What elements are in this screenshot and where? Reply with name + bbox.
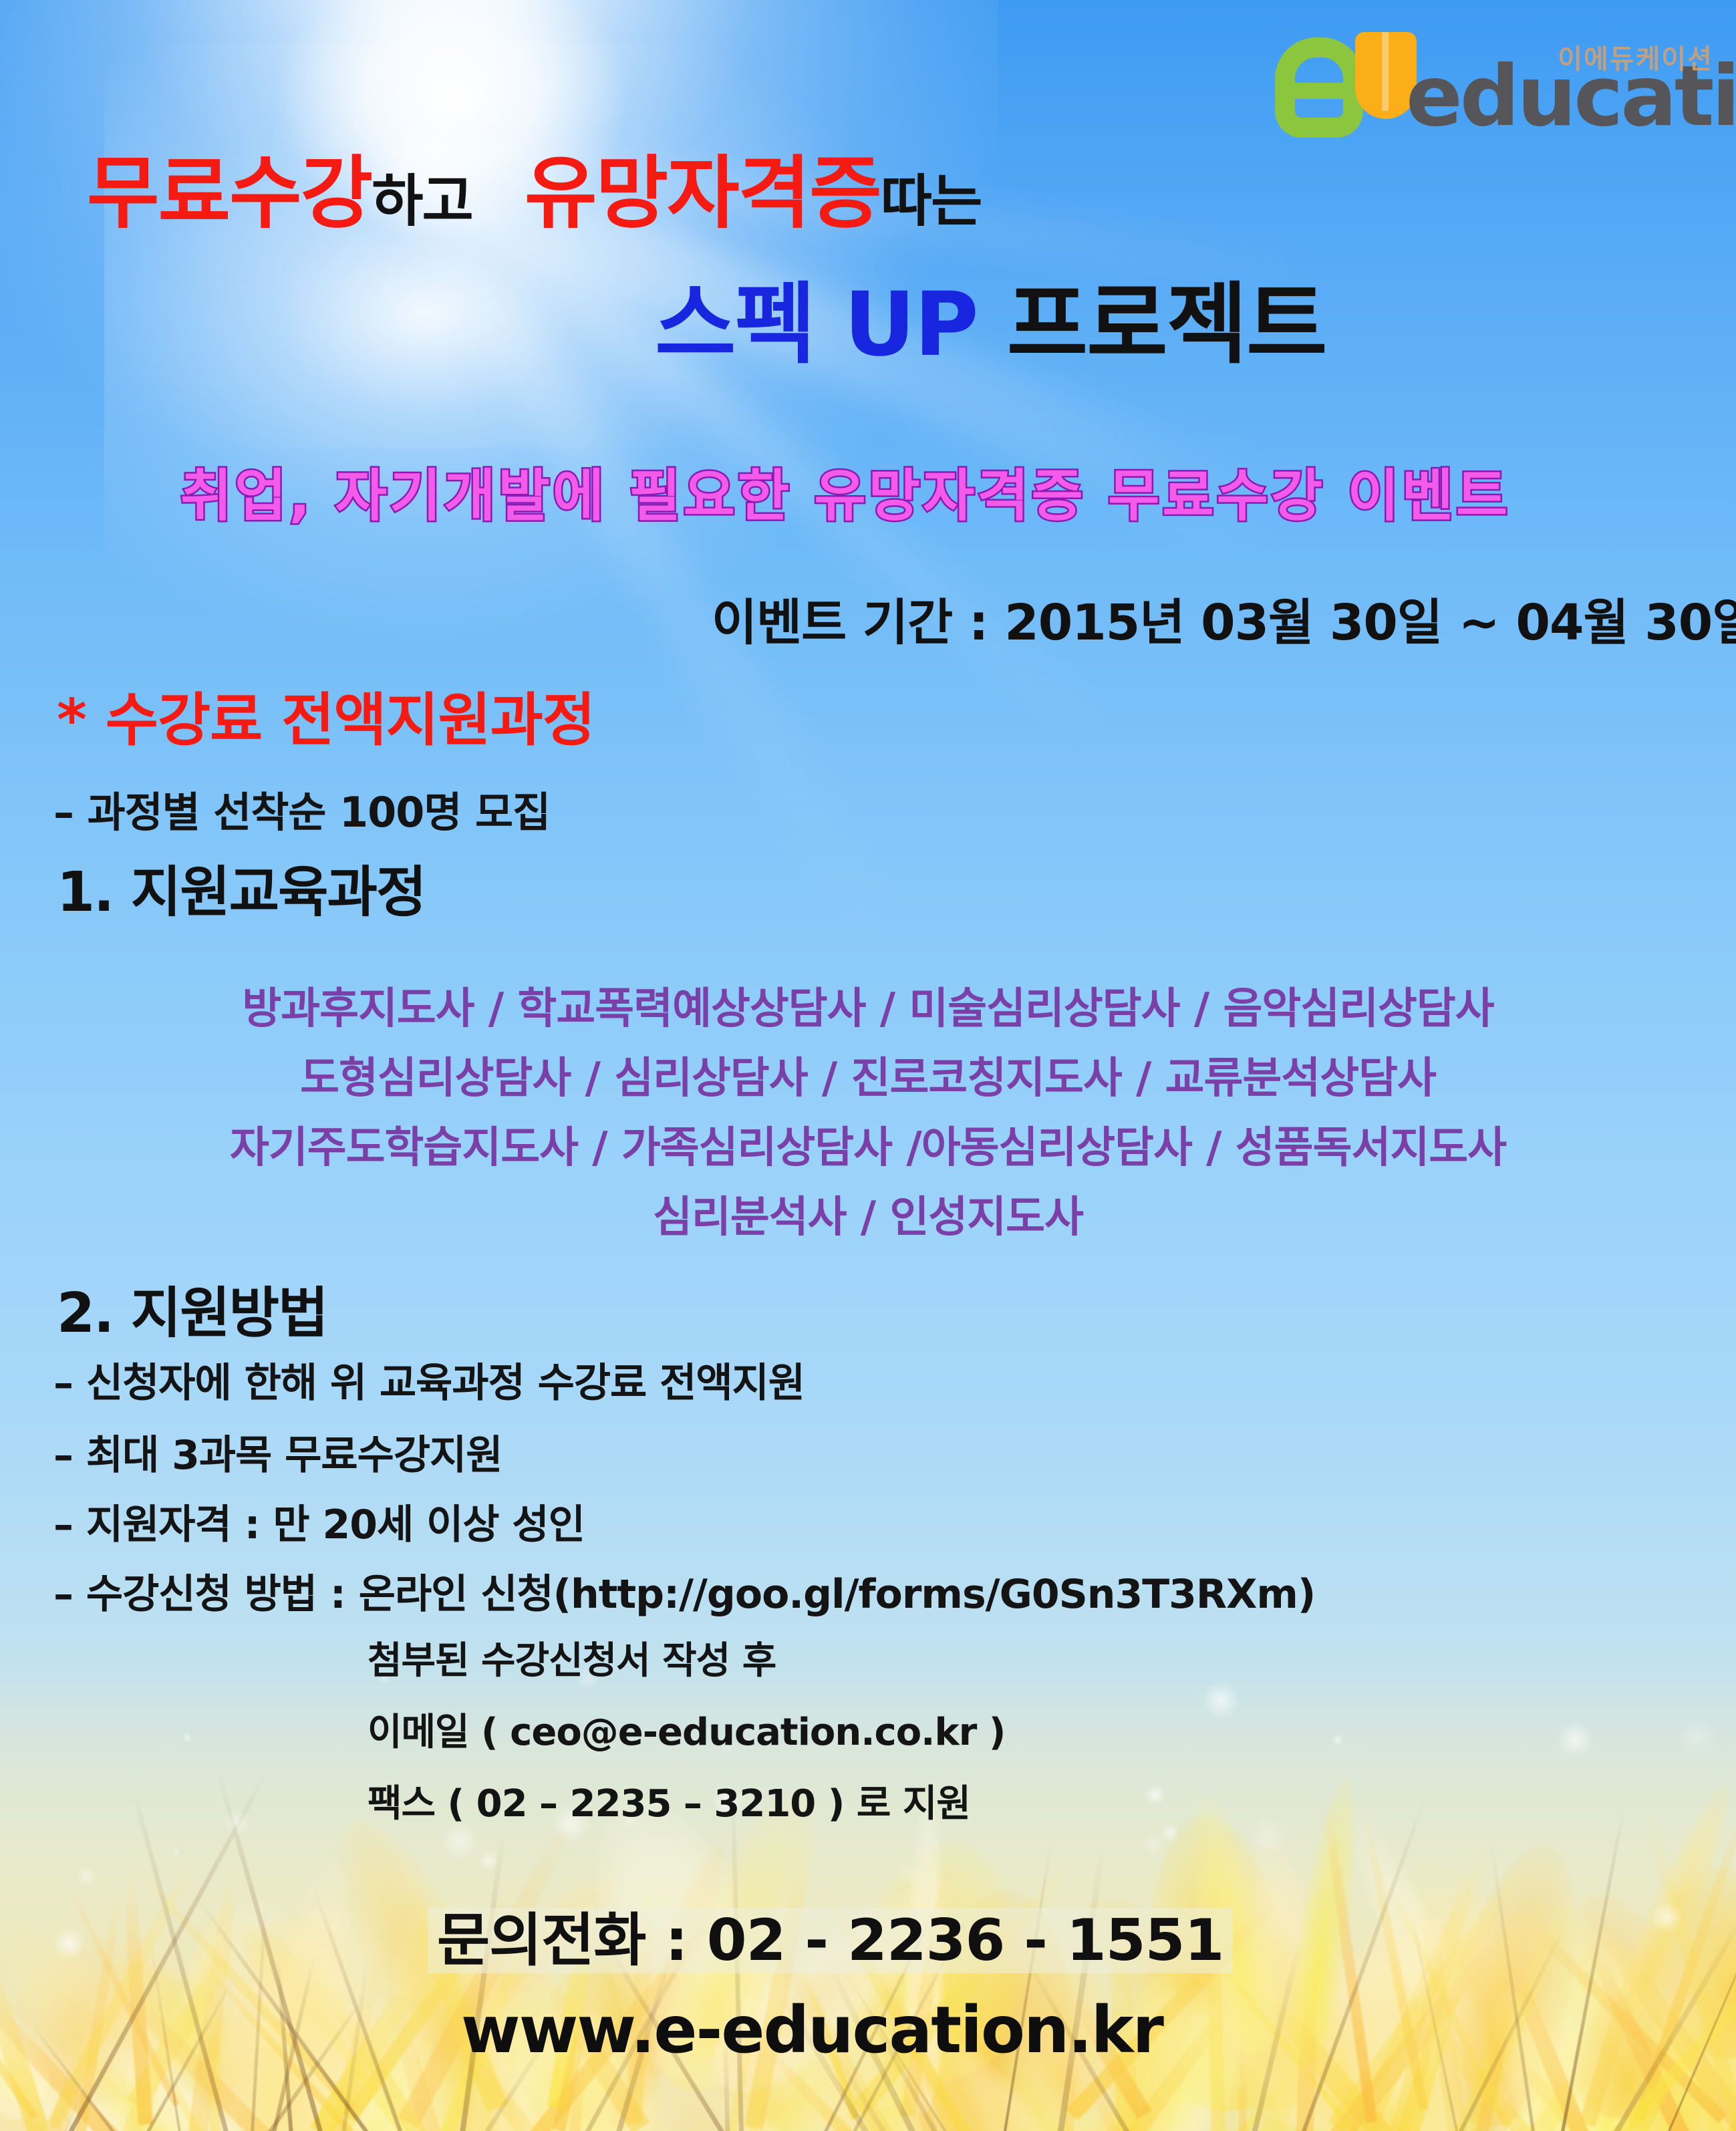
headline-project: 프로젝트 [1007, 273, 1326, 376]
bokeh-dot [170, 1846, 181, 1856]
course-line: 도형심리상담사 / 심리상담사 / 진로코칭지도사 / 교류분석상담사 [0, 1044, 1736, 1105]
brand-logo[interactable]: education 이에듀케이션 [1275, 25, 1716, 146]
bokeh-dot [1332, 1734, 1344, 1746]
apply-detail: 첨부된 수강신청서 작성 후 [368, 1643, 776, 1680]
apply-bullet: – 신청자에 한해 위 교육과정 수강료 전액지원 [53, 1363, 805, 1403]
bokeh-dot [440, 1821, 480, 1861]
bokeh-dot [1557, 1721, 1593, 1757]
headline-free-course: 무료수강 [87, 147, 372, 239]
headline-particle-2: 따는 [881, 168, 982, 234]
bokeh-dot [1201, 1681, 1241, 1720]
promotional-poster: (function(){ const f = document.querySel… [0, 0, 1736, 2131]
course-line: 방과후지도사 / 학교폭력예상상담사 / 미술심리상담사 / 음악심리상담사 [0, 974, 1736, 1036]
subtitle-banner: 취업, 자기개발에 필요한 유망자격증 무료수강 이벤트 [180, 468, 1510, 524]
bokeh-dot [1160, 1823, 1180, 1843]
contact-website[interactable]: www.e-education.kr [461, 1998, 1163, 2062]
apply-bullet-online-link[interactable]: – 수강신청 방법 : 온라인 신청(http://goo.gl/forms/G… [53, 1574, 1315, 1614]
bokeh-dot [1145, 1784, 1166, 1806]
apply-detail-fax: 팩스 ( 02 – 2235 – 3210 ) 로 지원 [368, 1786, 970, 1823]
event-period: 이벤트 기간 : 2015년 03월 30일 ~ 04월 30일 까지 [712, 598, 1736, 648]
section-2-heading: 2. 지원방법 [57, 1286, 327, 1341]
bokeh-dot [1677, 1717, 1717, 1757]
headline-particle-1: 하고 [372, 168, 472, 234]
headline-certificate: 유망자격증 [525, 147, 881, 239]
full-support-heading: * 수강료 전액지원과정 [57, 692, 595, 749]
logo-korean-name: 이에듀케이션 [1558, 37, 1713, 76]
course-line: 심리분석사 / 인성지도사 [0, 1183, 1736, 1244]
logo-e-crossbar-icon [1288, 83, 1350, 99]
bokeh-dot [478, 1850, 499, 1871]
bokeh-dot [53, 1927, 86, 1960]
course-line: 자기주도학습지도사 / 가족심리상담사 /아동심리상담사 / 성품독서지도사 [0, 1113, 1736, 1175]
recruit-note: – 과정별 선착순 100명 모집 [53, 792, 550, 833]
contact-phone: 문의전화 : 02 - 2236 - 1551 [428, 1908, 1233, 1973]
bokeh-dot [76, 1866, 96, 1886]
headline-line-2: 스펙 UP 프로젝트 [655, 281, 1326, 369]
headline-up: UP [844, 273, 978, 376]
bokeh-dot [1650, 1901, 1683, 1934]
headline-line-1: 무료수강하고 유망자격증따는 [87, 154, 981, 233]
section-1-heading: 1. 지원교육과정 [57, 865, 425, 920]
bokeh-dot [1246, 1815, 1288, 1857]
apply-bullet: – 지원자격 : 만 20세 이상 성인 [53, 1505, 585, 1545]
apply-detail-email[interactable]: 이메일 ( ceo@e-education.co.kr ) [368, 1714, 1005, 1751]
headline-spec: 스펙 [655, 273, 815, 376]
bokeh-dot [895, 1860, 922, 1886]
apply-bullet: – 최대 3과목 무료수강지원 [53, 1435, 502, 1475]
